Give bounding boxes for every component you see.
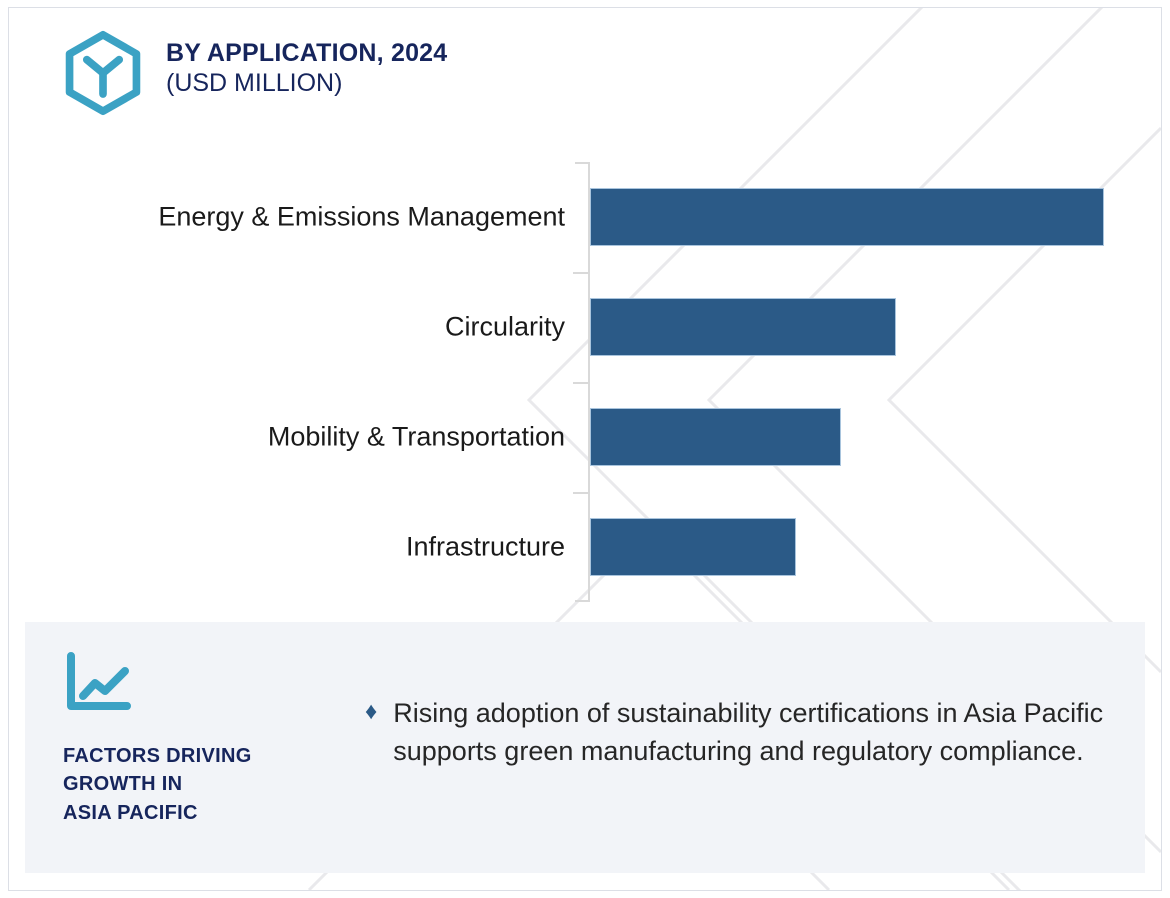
diamond-bullet-icon: ♦ xyxy=(365,695,377,771)
chart-header: BY APPLICATION, 2024 (USD MILLION) xyxy=(62,30,447,116)
chart-card: BY APPLICATION, 2024 (USD MILLION) Energ… xyxy=(0,0,1170,898)
line-chart-icon xyxy=(63,650,137,714)
y-axis-top-cap xyxy=(575,162,589,164)
panel-heading: FACTORS DRIVING GROWTH IN ASIA PACIFIC xyxy=(63,742,363,827)
growth-factor-text: Rising adoption of sustainability certif… xyxy=(393,694,1105,771)
panel-right-column: ♦ Rising adoption of sustainability cert… xyxy=(365,694,1105,771)
y-axis-tick-2 xyxy=(573,382,589,384)
bar-row: Infrastructure xyxy=(0,518,1160,576)
y-axis-tick-3 xyxy=(573,492,589,494)
header-text-block: BY APPLICATION, 2024 (USD MILLION) xyxy=(166,30,447,99)
y-axis-tick-1 xyxy=(573,272,589,274)
page-title: BY APPLICATION, 2024 xyxy=(166,39,447,68)
bar-circularity[interactable] xyxy=(590,298,896,356)
bar-row: Circularity xyxy=(0,298,1160,356)
bar-energy-emissions-management[interactable] xyxy=(590,188,1104,246)
bar-row: Energy & Emissions Management xyxy=(0,188,1160,246)
bar-label: Mobility & Transportation xyxy=(268,422,565,453)
bar-row: Mobility & Transportation xyxy=(0,408,1160,466)
page-subtitle: (USD MILLION) xyxy=(166,68,447,99)
panel-heading-line-3: ASIA PACIFIC xyxy=(63,799,363,827)
bar-infrastructure[interactable] xyxy=(590,518,796,576)
bar-label: Energy & Emissions Management xyxy=(158,202,565,233)
panel-left-column: FACTORS DRIVING GROWTH IN ASIA PACIFIC xyxy=(63,650,363,827)
growth-factors-panel: FACTORS DRIVING GROWTH IN ASIA PACIFIC ♦… xyxy=(25,622,1145,873)
bar-label: Infrastructure xyxy=(406,532,565,563)
bar-mobility-transportation[interactable] xyxy=(590,408,841,466)
bar-chart: Energy & Emissions Management Circularit… xyxy=(0,150,1160,620)
y-axis-bottom-cap xyxy=(575,600,589,602)
bar-label: Circularity xyxy=(445,312,565,343)
panel-heading-line-2: GROWTH IN xyxy=(63,770,363,798)
panel-heading-line-1: FACTORS DRIVING xyxy=(63,742,363,770)
hexagon-y-icon xyxy=(62,30,144,116)
